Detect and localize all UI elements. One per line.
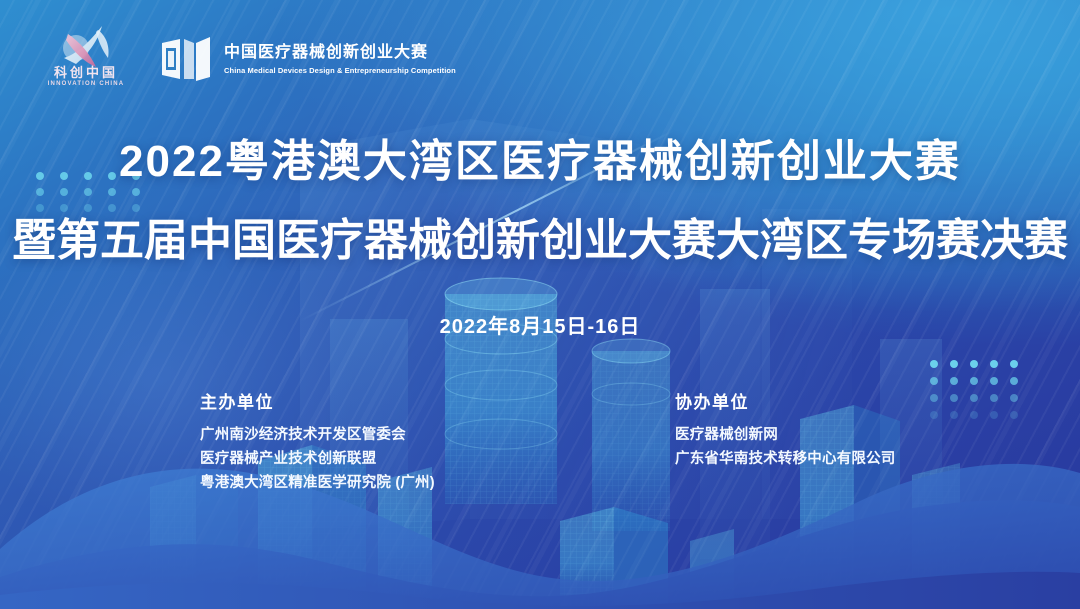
host-organizer-item: 医疗器械产业技术创新联盟 bbox=[200, 447, 435, 471]
innovation-china-logo: 科创中国 INNOVATION CHINA bbox=[40, 24, 132, 94]
poster-title-line-2: 暨第五届中国医疗器械创新创业大赛大湾区专场赛决赛 bbox=[0, 213, 1080, 269]
competition-en-text: China Medical Devices Design & Entrepren… bbox=[224, 65, 456, 76]
competition-cn-text: 中国医疗器械创新创业大赛 bbox=[224, 43, 456, 63]
dot-grid-right-decoration bbox=[930, 360, 1050, 450]
competition-logo: 中国医疗器械创新创业大赛 China Medical Devices Desig… bbox=[160, 35, 456, 83]
event-poster: 科创中国 INNOVATION CHINA 中国医疗器械创新创业大赛 China… bbox=[0, 0, 1080, 609]
coorganizer-heading: 协办单位 bbox=[675, 392, 896, 414]
innovation-china-bird-mark bbox=[54, 24, 116, 68]
poster-title-line-1: 2022粤港澳大湾区医疗器械创新创业大赛 bbox=[0, 134, 1080, 190]
host-organizer-item: 广州南沙经济技术开发区管委会 bbox=[200, 423, 435, 447]
coorganizer-item: 广东省华南技术转移中心有限公司 bbox=[675, 447, 896, 471]
host-organizer-item: 粤港澳大湾区精准医学研究院 (广州) bbox=[200, 471, 435, 495]
poster-date: 2022年8月15日-16日 bbox=[0, 310, 1080, 339]
innovation-china-en-text: INNOVATION CHINA bbox=[40, 81, 132, 88]
wave-decoration bbox=[0, 429, 1080, 609]
host-organizer-heading: 主办单位 bbox=[200, 392, 435, 414]
host-organizer-block: 主办单位 广州南沙经济技术开发区管委会 医疗器械产业技术创新联盟 粤港澳大湾区精… bbox=[200, 392, 435, 495]
coorganizer-item: 医疗器械创新网 bbox=[675, 423, 896, 447]
logo-bar: 科创中国 INNOVATION CHINA 中国医疗器械创新创业大赛 China… bbox=[40, 24, 456, 94]
open-book-mark bbox=[160, 35, 212, 83]
coorganizer-block: 协办单位 医疗器械创新网 广东省华南技术转移中心有限公司 bbox=[675, 392, 896, 471]
innovation-china-cn-text: 科创中国 bbox=[40, 66, 132, 80]
